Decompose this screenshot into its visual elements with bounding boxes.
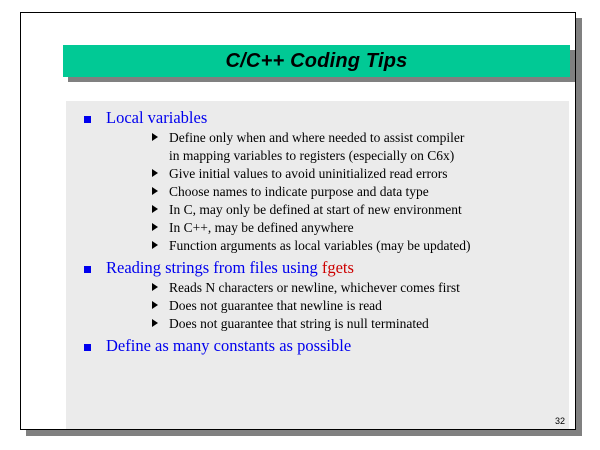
- sub-bullet-text: Define only when and where needed to ass…: [169, 129, 569, 165]
- bullet-item-local-variables: Local variables Define only when and whe…: [76, 107, 569, 255]
- triangle-bullet-icon: [152, 319, 158, 327]
- content-panel: Local variables Define only when and whe…: [66, 101, 569, 429]
- triangle-bullet-icon: [152, 241, 158, 249]
- slide-number: 32: [555, 416, 565, 426]
- sub-bullet-list: Reads N characters or newline, whichever…: [106, 279, 569, 333]
- sub-bullet-item: In C, may only be defined at start of ne…: [144, 201, 569, 219]
- square-bullet-icon: [84, 344, 91, 351]
- triangle-bullet-icon: [152, 223, 158, 231]
- sub-bullet-item: Does not guarantee that newline is read: [144, 297, 569, 315]
- slide-title: C/C++ Coding Tips: [226, 50, 408, 73]
- sub-bullet-text: In C++, may be defined anywhere: [169, 219, 569, 237]
- sub-bullet-text: Choose names to indicate purpose and dat…: [169, 183, 569, 201]
- triangle-bullet-icon: [152, 301, 158, 309]
- sub-bullet-list: Define only when and where needed to ass…: [106, 129, 569, 255]
- bullet-heading-text: Define as many constants as possible: [106, 336, 351, 355]
- triangle-bullet-icon: [152, 205, 158, 213]
- slide-frame: C/C++ Coding Tips Local variables Define…: [20, 12, 576, 430]
- sub-bullet-item: Choose names to indicate purpose and dat…: [144, 183, 569, 201]
- bullet-heading-text: Local variables: [106, 108, 207, 127]
- bullet-item-define-constants: Define as many constants as possible: [76, 335, 569, 357]
- bullet-item-reading-strings: Reading strings from files using fgets R…: [76, 257, 569, 333]
- title-banner: C/C++ Coding Tips: [63, 45, 570, 77]
- bullet-list: Local variables Define only when and whe…: [66, 107, 569, 357]
- bullet-heading-accent: fgets: [322, 258, 354, 277]
- sub-bullet-text: Does not guarantee that string is null t…: [169, 315, 569, 333]
- triangle-bullet-icon: [152, 169, 158, 177]
- sub-bullet-item: Function arguments as local variables (m…: [144, 237, 569, 255]
- sub-bullet-line-1: Define only when and where needed to ass…: [169, 130, 464, 145]
- triangle-bullet-icon: [152, 283, 158, 291]
- sub-bullet-text: Does not guarantee that newline is read: [169, 297, 569, 315]
- bullet-heading-text: Reading strings from files using: [106, 258, 322, 277]
- sub-bullet-item: Reads N characters or newline, whichever…: [144, 279, 569, 297]
- sub-bullet-text: Give initial values to avoid uninitializ…: [169, 165, 569, 183]
- bullet-heading: Local variables: [106, 107, 569, 129]
- bullet-heading: Reading strings from files using fgets: [106, 257, 569, 279]
- sub-bullet-item: Define only when and where needed to ass…: [144, 129, 569, 165]
- triangle-bullet-icon: [152, 187, 158, 195]
- sub-bullet-line-2: in mapping variables to registers (espec…: [169, 147, 569, 165]
- sub-bullet-text: In C, may only be defined at start of ne…: [169, 201, 569, 219]
- square-bullet-icon: [84, 116, 91, 123]
- sub-bullet-text: Reads N characters or newline, whichever…: [169, 279, 569, 297]
- sub-bullet-item: In C++, may be defined anywhere: [144, 219, 569, 237]
- sub-bullet-item: Does not guarantee that string is null t…: [144, 315, 569, 333]
- triangle-bullet-icon: [152, 133, 158, 141]
- bullet-heading: Define as many constants as possible: [106, 335, 569, 357]
- sub-bullet-item: Give initial values to avoid uninitializ…: [144, 165, 569, 183]
- square-bullet-icon: [84, 266, 91, 273]
- sub-bullet-text: Function arguments as local variables (m…: [169, 237, 569, 255]
